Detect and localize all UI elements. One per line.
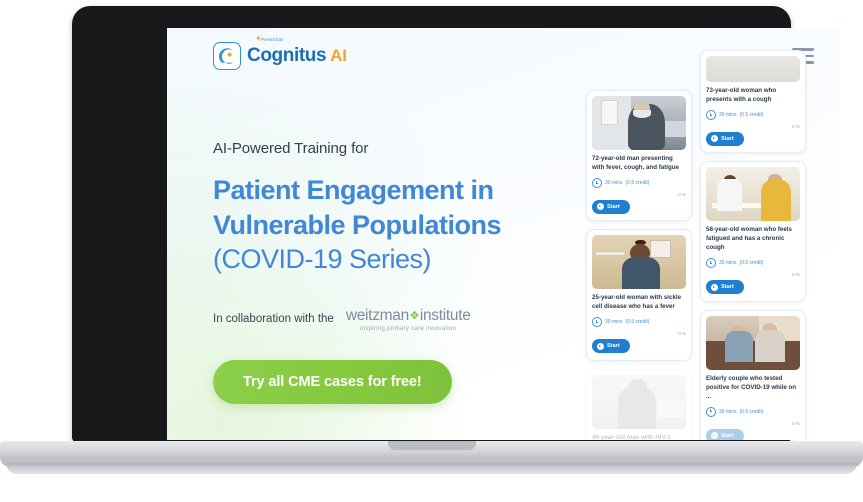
case-progress-value: 0 % [792, 421, 800, 426]
page-title: Patient Engagement in Vulnerable Populat… [213, 173, 613, 277]
laptop-screen: ✦ PresiChat Cognitus AI AI-Powered [167, 28, 840, 440]
case-thumbnail [592, 235, 686, 289]
partner-tagline: inspiring primary care innovation [346, 326, 471, 332]
laptop-base-notch [388, 441, 476, 450]
start-button-label: Start [607, 204, 620, 210]
cognitus-logo-icon [213, 42, 241, 70]
clover-star-icon: ✥ [409, 310, 420, 322]
case-title: 73-year-old woman who presents with a co… [706, 87, 800, 105]
start-button-label: Start [721, 433, 734, 439]
case-progress-row: 0 % [706, 421, 800, 426]
case-credit: (0.5 credit) [740, 260, 764, 266]
partner-name: weitzman✥institute [346, 307, 471, 324]
case-duration: 30 mins [719, 260, 737, 266]
case-thumbnail [706, 167, 800, 221]
logo-wordmark: ✦ PresiChat Cognitus AI [247, 45, 347, 67]
start-case-button[interactable]: Start [706, 280, 744, 294]
case-card-column-right: 73-year-old woman who presents with a co… [700, 50, 806, 440]
patient-photo [592, 375, 686, 429]
case-credit: (0.5 credit) [740, 112, 764, 118]
hero-eyebrow: AI-Powered Training for [213, 140, 613, 157]
case-meta: 30 mins (0.5 credit) [706, 110, 800, 120]
case-title: 72-year-old man presenting with fever, c… [592, 155, 686, 173]
clock-icon [592, 317, 602, 327]
play-icon [711, 284, 718, 291]
case-duration: 30 mins [605, 180, 623, 186]
clock-icon [706, 407, 716, 417]
play-icon [711, 432, 718, 439]
webpage-viewport: ✦ PresiChat Cognitus AI AI-Powered [167, 28, 840, 440]
case-progress-row: 0 % [592, 192, 686, 197]
case-credit: (0.5 credit) [626, 180, 650, 186]
crescent-moon-icon [219, 48, 236, 65]
start-button-label: Start [721, 284, 734, 290]
case-duration: 30 mins [719, 112, 737, 118]
clock-icon [592, 178, 602, 188]
case-progress-value: 0 % [792, 124, 800, 129]
hero-title-line-1: Patient Engagement in [213, 173, 613, 208]
case-meta: 30 mins (0.5 credit) [592, 178, 686, 188]
clock-icon [706, 258, 716, 268]
patient-photo [706, 167, 800, 221]
logo-brand-text: Cognitus [247, 45, 326, 67]
case-card[interactable]: 46-year-old man with HIV-1 infection on … [586, 369, 692, 440]
case-thumbnail [592, 375, 686, 429]
start-case-button[interactable]: Start [706, 429, 744, 440]
laptop-base-underside [6, 463, 857, 474]
case-credit: (0.5 credit) [626, 319, 650, 325]
collaboration-row: In collaboration with the weitzman✥insti… [213, 307, 613, 332]
partner-name-right: institute [420, 307, 471, 324]
start-button-label: Start [721, 136, 734, 142]
case-credit: (0.5 credit) [740, 409, 764, 415]
case-progress-row: 0 % [706, 124, 800, 129]
case-thumbnail [706, 56, 800, 82]
play-icon [711, 135, 718, 142]
case-card[interactable]: Elderly couple who tested positive for C… [700, 310, 806, 440]
case-meta: 30 mins (0.5 credit) [706, 258, 800, 268]
case-thumbnail [592, 96, 686, 150]
hero-title-line-2: Vulnerable Populations [213, 208, 613, 243]
brand-logo[interactable]: ✦ PresiChat Cognitus AI [213, 42, 347, 70]
case-progress-value: 0 % [678, 331, 686, 336]
patient-photo [706, 316, 800, 370]
case-card[interactable]: 58-year-old woman who feels fatigued and… [700, 161, 806, 301]
logo-suffix-text: AI [330, 46, 347, 66]
case-meta: 30 mins (0.5 credit) [706, 407, 800, 417]
clock-icon [706, 110, 716, 120]
start-case-button[interactable]: Start [706, 132, 744, 146]
case-progress-value: 0 % [792, 272, 800, 277]
patient-photo [592, 96, 686, 150]
partner-name-left: weitzman [346, 307, 409, 324]
start-case-button[interactable]: Start [592, 200, 630, 214]
case-card[interactable]: 25-year-old woman with sickle cell disea… [586, 229, 692, 360]
hero-title-line-3: (COVID-19 Series) [213, 242, 613, 277]
laptop-lid: ✦ PresiChat Cognitus AI AI-Powered [72, 6, 791, 443]
patient-photo [592, 235, 686, 289]
play-icon [597, 203, 604, 210]
case-progress-row: 0 % [706, 272, 800, 277]
hero-section: AI-Powered Training for Patient Engageme… [213, 140, 613, 404]
case-card[interactable]: 73-year-old woman who presents with a co… [700, 50, 806, 153]
case-title: 58-year-old woman who feels fatigued and… [706, 226, 800, 253]
case-duration: 30 mins [605, 319, 623, 325]
case-title: Elderly couple who tested positive for C… [706, 375, 800, 402]
start-button-label: Start [607, 343, 620, 349]
play-icon [597, 343, 604, 350]
case-card-column-left: 72-year-old man presenting with fever, c… [586, 90, 692, 440]
case-progress-row: 0 % [592, 331, 686, 336]
case-title: 46-year-old man with HIV-1 infection on … [592, 434, 686, 440]
case-thumbnail [706, 316, 800, 370]
logo-superscript: PresiChat [261, 37, 283, 42]
weitzman-institute-logo: weitzman✥institute inspiring primary car… [346, 307, 471, 332]
try-cme-cases-button[interactable]: Try all CME cases for free! [213, 360, 452, 404]
case-meta: 30 mins (0.5 credit) [592, 317, 686, 327]
laptop-device-mockup: ✦ PresiChat Cognitus AI AI-Powered [0, 0, 863, 502]
patient-photo [706, 56, 800, 82]
collaboration-label: In collaboration with the [213, 313, 334, 325]
start-case-button[interactable]: Start [592, 339, 630, 353]
case-card[interactable]: 72-year-old man presenting with fever, c… [586, 90, 692, 221]
case-title: 25-year-old woman with sickle cell disea… [592, 294, 686, 312]
case-progress-value: 0 % [678, 192, 686, 197]
case-duration: 30 mins [719, 409, 737, 415]
